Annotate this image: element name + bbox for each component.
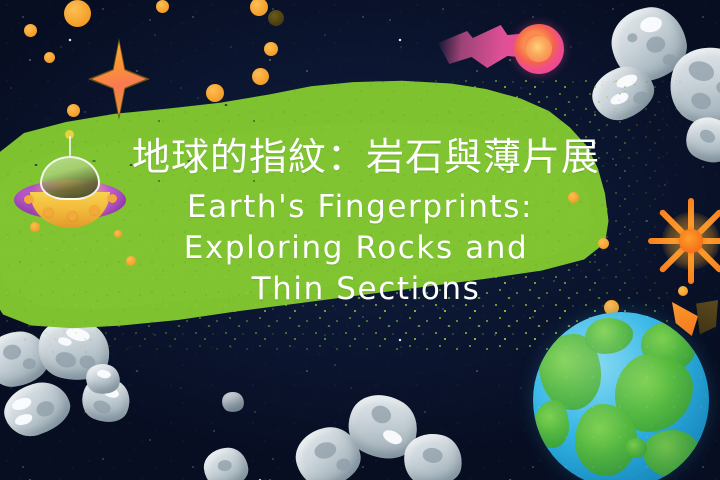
- ufo-light: [68, 212, 77, 221]
- asteroid-crater: [639, 15, 664, 34]
- asteroid-crater: [14, 412, 34, 427]
- orange-dot: [264, 42, 278, 56]
- orange-dot: [206, 84, 224, 102]
- ufo-light: [24, 195, 33, 204]
- asteroid: [202, 446, 250, 480]
- asteroid-crater: [689, 90, 713, 111]
- comet-icon: [438, 6, 588, 84]
- space-poster: 地球的指紋：岩石與薄片展 Earth's Fingerprints: Explo…: [0, 0, 720, 480]
- asteroid-crater: [217, 459, 232, 471]
- asteroid-crater: [645, 35, 667, 55]
- asteroid-crater: [313, 440, 338, 461]
- asteroid: [678, 109, 720, 171]
- asteroid-crater: [369, 402, 394, 426]
- orange-dot: [114, 230, 122, 238]
- ufo-dome: [40, 156, 100, 200]
- orange-dot-dark: [268, 10, 284, 26]
- starburst-core: [679, 229, 703, 253]
- ufo-light: [44, 208, 53, 217]
- ufo-icon: [14, 150, 126, 232]
- orange-dot: [598, 238, 609, 249]
- orange-dot: [678, 286, 688, 296]
- asteroid-crater: [96, 369, 111, 379]
- star-sparkle-icon: [88, 38, 150, 120]
- orange-dot: [156, 0, 169, 13]
- orange-dot: [30, 222, 40, 232]
- ufo-light: [108, 194, 117, 203]
- asteroid-crater: [422, 447, 444, 465]
- asteroid-crater: [22, 357, 36, 370]
- asteroid-crater: [698, 127, 718, 145]
- orange-dot: [568, 192, 579, 203]
- asteroid-crater: [35, 399, 57, 419]
- asteroid-crater: [335, 457, 351, 472]
- starburst-icon: [648, 198, 720, 284]
- orange-dot: [126, 256, 136, 266]
- asteroid: [220, 390, 246, 414]
- ufo-antenna: [69, 136, 71, 158]
- ufo-light: [90, 206, 99, 215]
- asteroid-crater: [686, 58, 717, 84]
- asteroid-crater: [715, 79, 720, 96]
- earth-planet: [533, 312, 709, 480]
- asteroid-crater: [10, 396, 32, 413]
- orange-dot: [64, 0, 91, 27]
- asteroid-crater: [91, 398, 112, 416]
- comet-core: [526, 36, 552, 62]
- orange-dot: [250, 0, 268, 16]
- asteroid-crater: [627, 32, 639, 43]
- orange-dot: [24, 24, 37, 37]
- asteroid-crater: [381, 427, 404, 447]
- orange-dot: [252, 68, 269, 85]
- sparkle-fill: [92, 42, 146, 116]
- orange-dot: [67, 104, 80, 117]
- orange-dot: [44, 52, 55, 63]
- earth-shading: [533, 312, 709, 480]
